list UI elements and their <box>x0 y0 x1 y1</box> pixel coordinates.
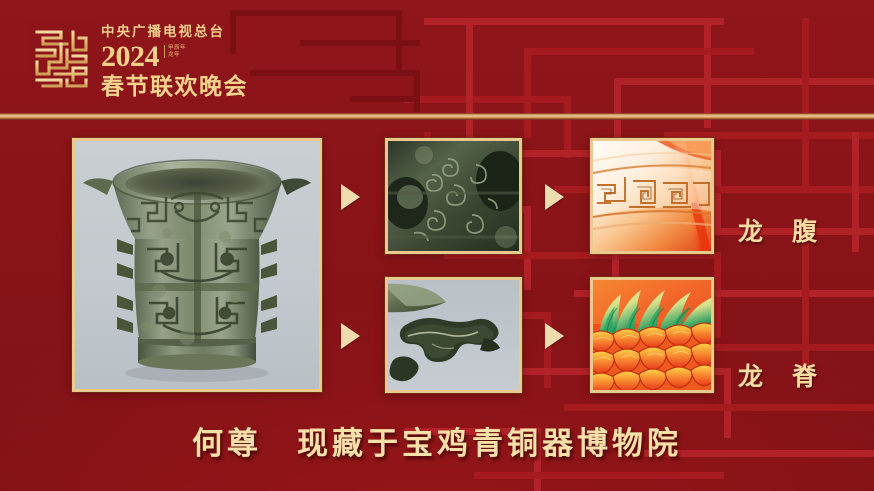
frame-bronze-surface-detail-spirals <box>385 138 522 254</box>
arrow-right-icon-2 <box>341 323 360 349</box>
label-dragon-belly: 龙 腹 <box>738 212 828 248</box>
arrow-right-icon-3 <box>545 184 564 210</box>
gala-year: 2024 <box>101 41 159 72</box>
gala-show-title: 春节联欢晚会 <box>101 73 341 100</box>
broadcaster-name: 中央广播电视总台 <box>101 24 341 40</box>
header: 中央广播电视总台 2024甲辰年 龙年 春节联欢晚会 <box>0 0 874 112</box>
label-dragon-spine: 龙 脊 <box>738 357 828 393</box>
arrow-right-icon-4 <box>545 323 564 349</box>
artifact-caption: 何尊 现藏于宝鸡青铜器博物院 <box>0 418 874 463</box>
arrow-right-icon-1 <box>341 184 360 210</box>
gala-slide: 中央广播电视总台 2024甲辰年 龙年 春节联欢晚会 <box>0 0 874 491</box>
brand-text-block: 中央广播电视总台 2024甲辰年 龙年 春节联欢晚会 <box>101 24 341 100</box>
cctv-spring-gala-maze-emblem-icon <box>28 22 95 95</box>
frame-dragon-belly-artwork <box>590 138 714 254</box>
gala-year-subtitle: 甲辰年 龙年 <box>164 45 186 58</box>
frame-he-zun-full-vessel <box>72 138 322 392</box>
frame-bronze-flange-detail <box>385 277 522 393</box>
header-divider <box>0 113 874 120</box>
frame-dragon-spine-artwork <box>590 277 714 393</box>
